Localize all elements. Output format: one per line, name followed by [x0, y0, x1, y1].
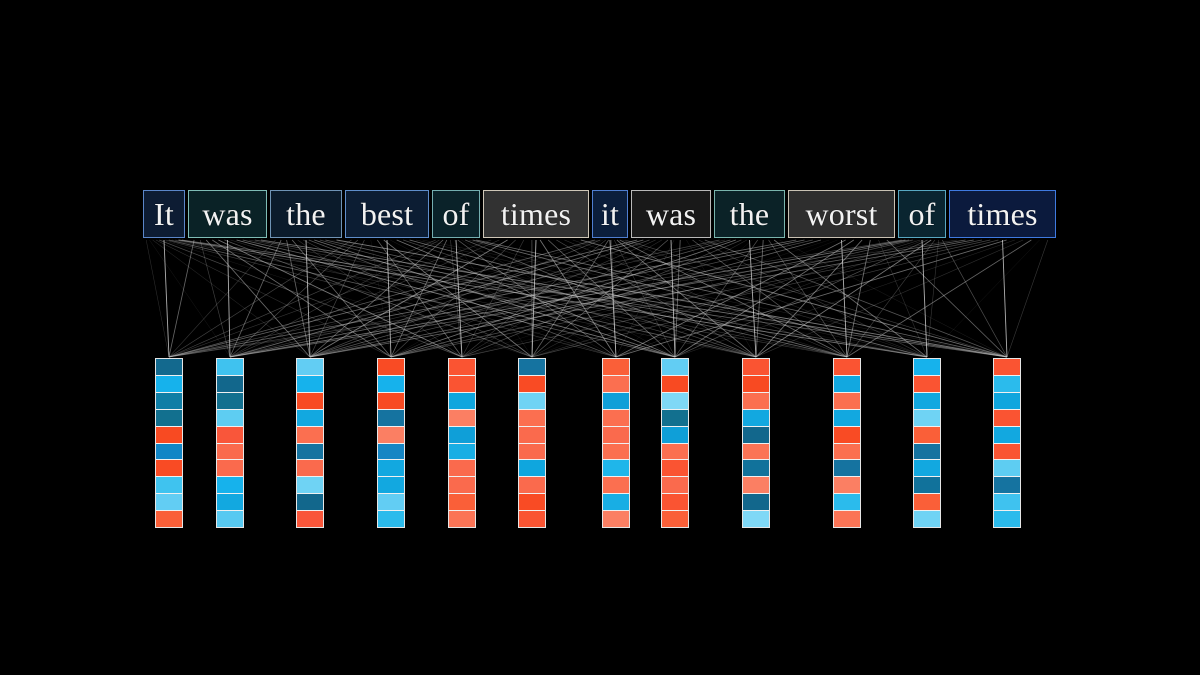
heatmap-cell — [156, 444, 182, 461]
token-box-11[interactable]: times — [949, 190, 1056, 238]
heatmap-cell — [834, 393, 860, 410]
heatmap-cell — [519, 494, 545, 511]
heatmap-cell — [914, 376, 940, 393]
heatmap-cell — [156, 460, 182, 477]
heatmap-cell — [156, 477, 182, 494]
heatmap-cell — [994, 477, 1020, 494]
heatmap-cell — [217, 393, 243, 410]
heatmap-cell — [662, 393, 688, 410]
heatmap-cell — [297, 393, 323, 410]
heatmap-column-4[interactable] — [448, 358, 476, 528]
heatmap-cell — [914, 427, 940, 444]
heatmap-column-8[interactable] — [742, 358, 770, 528]
heatmap-cell — [378, 460, 404, 477]
heatmap-column-2[interactable] — [296, 358, 324, 528]
heatmap-cell — [378, 427, 404, 444]
heatmap-cell — [217, 511, 243, 527]
token-label: it — [601, 198, 619, 230]
heatmap-cell — [662, 376, 688, 393]
heatmap-column-group — [0, 358, 1200, 530]
token-box-0[interactable]: It — [143, 190, 185, 238]
heatmap-column-6[interactable] — [602, 358, 630, 528]
token-label: of — [442, 198, 469, 230]
heatmap-cell — [603, 460, 629, 477]
heatmap-column-9[interactable] — [833, 358, 861, 528]
heatmap-cell — [743, 444, 769, 461]
heatmap-cell — [662, 511, 688, 527]
heatmap-cell — [914, 393, 940, 410]
heatmap-cell — [378, 393, 404, 410]
heatmap-column-1[interactable] — [216, 358, 244, 528]
heatmap-cell — [449, 376, 475, 393]
token-box-8[interactable]: the — [714, 190, 785, 238]
heatmap-cell — [156, 494, 182, 511]
heatmap-cell — [834, 410, 860, 427]
heatmap-column-0[interactable] — [155, 358, 183, 528]
token-box-5[interactable]: times — [483, 190, 589, 238]
heatmap-cell — [994, 393, 1020, 410]
heatmap-cell — [156, 427, 182, 444]
heatmap-cell — [519, 427, 545, 444]
heatmap-cell — [743, 359, 769, 376]
token-label: best — [361, 198, 413, 230]
attention-visualization: Itwasthebestoftimesitwastheworstoftimes — [0, 0, 1200, 675]
heatmap-cell — [743, 460, 769, 477]
heatmap-cell — [914, 359, 940, 376]
token-box-4[interactable]: of — [432, 190, 480, 238]
token-box-3[interactable]: best — [345, 190, 429, 238]
heatmap-cell — [994, 376, 1020, 393]
heatmap-cell — [662, 494, 688, 511]
heatmap-cell — [156, 410, 182, 427]
heatmap-cell — [297, 427, 323, 444]
heatmap-cell — [217, 410, 243, 427]
heatmap-cell — [519, 444, 545, 461]
attention-edges-layer — [0, 0, 1200, 675]
heatmap-cell — [217, 444, 243, 461]
heatmap-cell — [662, 427, 688, 444]
heatmap-cell — [297, 376, 323, 393]
heatmap-cell — [662, 410, 688, 427]
token-box-2[interactable]: the — [270, 190, 342, 238]
heatmap-cell — [914, 444, 940, 461]
heatmap-cell — [994, 494, 1020, 511]
heatmap-cell — [994, 460, 1020, 477]
heatmap-cell — [603, 444, 629, 461]
heatmap-cell — [834, 511, 860, 527]
heatmap-cell — [834, 427, 860, 444]
heatmap-cell — [449, 410, 475, 427]
heatmap-cell — [378, 359, 404, 376]
heatmap-cell — [297, 359, 323, 376]
heatmap-cell — [378, 494, 404, 511]
heatmap-cell — [156, 359, 182, 376]
heatmap-cell — [378, 511, 404, 527]
heatmap-cell — [994, 427, 1020, 444]
token-label: It — [154, 198, 174, 230]
token-box-1[interactable]: was — [188, 190, 267, 238]
token-box-10[interactable]: of — [898, 190, 946, 238]
heatmap-cell — [743, 477, 769, 494]
heatmap-cell — [994, 444, 1020, 461]
heatmap-cell — [662, 477, 688, 494]
heatmap-cell — [217, 427, 243, 444]
heatmap-cell — [297, 477, 323, 494]
heatmap-cell — [297, 444, 323, 461]
heatmap-cell — [519, 393, 545, 410]
heatmap-cell — [603, 477, 629, 494]
heatmap-cell — [834, 444, 860, 461]
heatmap-cell — [156, 376, 182, 393]
heatmap-cell — [297, 460, 323, 477]
heatmap-cell — [603, 359, 629, 376]
heatmap-cell — [743, 511, 769, 527]
heatmap-cell — [914, 494, 940, 511]
heatmap-cell — [662, 460, 688, 477]
token-label: of — [908, 198, 935, 230]
heatmap-column-3[interactable] — [377, 358, 405, 528]
token-label: was — [646, 198, 696, 230]
token-label: the — [286, 198, 326, 230]
heatmap-cell — [449, 477, 475, 494]
token-label: worst — [805, 198, 877, 230]
heatmap-cell — [834, 376, 860, 393]
heatmap-cell — [449, 511, 475, 527]
heatmap-cell — [519, 359, 545, 376]
heatmap-cell — [662, 444, 688, 461]
heatmap-cell — [519, 410, 545, 427]
heatmap-cell — [743, 427, 769, 444]
heatmap-cell — [743, 393, 769, 410]
heatmap-cell — [603, 427, 629, 444]
token-box-6[interactable]: it — [592, 190, 628, 238]
heatmap-cell — [994, 511, 1020, 527]
heatmap-cell — [834, 477, 860, 494]
heatmap-cell — [603, 494, 629, 511]
heatmap-cell — [914, 410, 940, 427]
token-box-9[interactable]: worst — [788, 190, 895, 238]
heatmap-column-7[interactable] — [661, 358, 689, 528]
heatmap-cell — [449, 460, 475, 477]
token-label: was — [202, 198, 252, 230]
heatmap-cell — [217, 460, 243, 477]
heatmap-cell — [994, 359, 1020, 376]
heatmap-cell — [378, 410, 404, 427]
heatmap-cell — [217, 494, 243, 511]
heatmap-cell — [297, 410, 323, 427]
heatmap-cell — [603, 511, 629, 527]
heatmap-cell — [297, 511, 323, 527]
heatmap-cell — [603, 393, 629, 410]
heatmap-cell — [834, 359, 860, 376]
heatmap-cell — [156, 393, 182, 410]
heatmap-cell — [834, 460, 860, 477]
token-label: the — [730, 198, 770, 230]
heatmap-cell — [519, 511, 545, 527]
heatmap-cell — [378, 477, 404, 494]
heatmap-cell — [914, 477, 940, 494]
heatmap-cell — [743, 410, 769, 427]
heatmap-cell — [217, 376, 243, 393]
heatmap-column-11[interactable] — [993, 358, 1021, 528]
heatmap-cell — [743, 494, 769, 511]
heatmap-cell — [914, 511, 940, 527]
heatmap-cell — [217, 477, 243, 494]
heatmap-cell — [662, 359, 688, 376]
heatmap-cell — [449, 393, 475, 410]
heatmap-cell — [156, 511, 182, 527]
heatmap-cell — [834, 494, 860, 511]
heatmap-column-10[interactable] — [913, 358, 941, 528]
heatmap-cell — [994, 410, 1020, 427]
token-box-7[interactable]: was — [631, 190, 711, 238]
heatmap-cell — [378, 376, 404, 393]
heatmap-cell — [449, 427, 475, 444]
heatmap-cell — [449, 359, 475, 376]
heatmap-cell — [914, 460, 940, 477]
heatmap-cell — [603, 410, 629, 427]
heatmap-cell — [743, 376, 769, 393]
heatmap-cell — [519, 460, 545, 477]
heatmap-cell — [449, 444, 475, 461]
token-label: times — [967, 198, 1037, 230]
heatmap-cell — [603, 376, 629, 393]
heatmap-cell — [449, 494, 475, 511]
token-label: times — [501, 198, 571, 230]
heatmap-cell — [217, 359, 243, 376]
heatmap-column-5[interactable] — [518, 358, 546, 528]
heatmap-cell — [519, 477, 545, 494]
heatmap-cell — [378, 444, 404, 461]
heatmap-cell — [519, 376, 545, 393]
heatmap-cell — [297, 494, 323, 511]
